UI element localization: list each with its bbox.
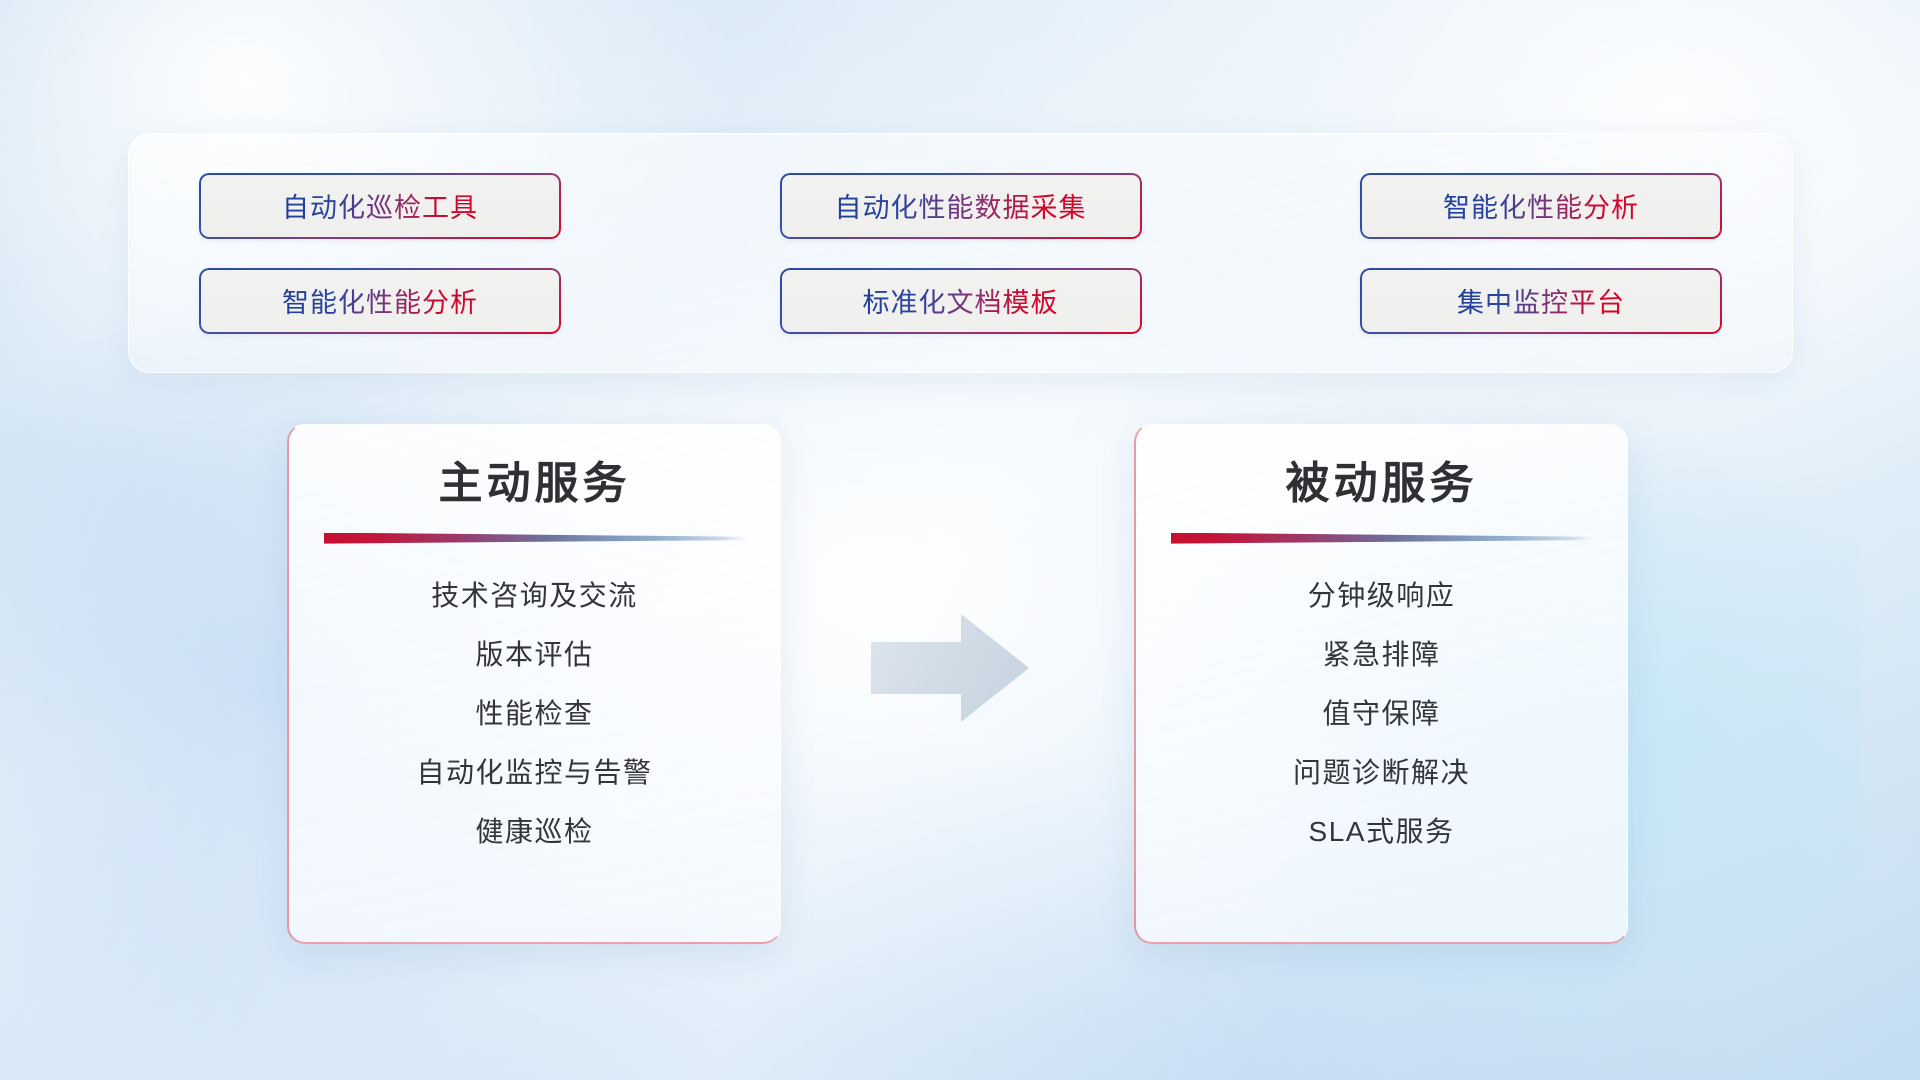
list-item: 紧急排障 [1322, 637, 1440, 672]
capability-pill-label: 智能化性能分析 [1443, 186, 1639, 225]
divider-gradient-wedge [324, 533, 746, 544]
capability-pill-label: 自动化性能数据采集 [835, 186, 1087, 225]
list-item: 值守保障 [1322, 696, 1440, 731]
service-card-active: 主动服务 技术咨询及交流 版本评估 性能检查 自动化监控与告警 健康巡检 [287, 424, 781, 944]
list-item: 健康巡检 [475, 814, 593, 849]
capability-row-2: 智能化性能分析 标准化文档模板 集中监控平台 [199, 268, 1722, 334]
list-item: 分钟级响应 [1308, 578, 1456, 613]
capability-pill-label: 自动化巡检工具 [282, 186, 478, 225]
divider-gradient-wedge [1171, 533, 1593, 544]
card-list-passive: 分钟级响应 紧急排障 值守保障 问题诊断解决 SLA式服务 [1176, 578, 1587, 849]
list-item: 性能检查 [475, 696, 593, 731]
capability-pill-label: 标准化文档模板 [863, 281, 1059, 320]
capability-pill-automated-inspection-tool[interactable]: 自动化巡检工具 [199, 173, 561, 239]
capability-panel: 自动化巡检工具 自动化性能数据采集 智能化性能分析 智能化性能分析 标准化文档模… [128, 133, 1793, 373]
capability-row-1: 自动化巡检工具 自动化性能数据采集 智能化性能分析 [199, 173, 1722, 239]
card-divider-active [324, 533, 746, 544]
list-item: 技术咨询及交流 [431, 578, 638, 613]
capability-pill-label: 集中监控平台 [1457, 281, 1625, 320]
capability-pill-intelligent-performance-analysis[interactable]: 智能化性能分析 [1360, 173, 1722, 239]
list-item: SLA式服务 [1309, 814, 1455, 849]
list-item: 问题诊断解决 [1293, 755, 1470, 790]
card-title-passive: 被动服务 [1286, 459, 1478, 510]
capability-pill-standardized-document-template[interactable]: 标准化文档模板 [780, 268, 1142, 334]
capability-pill-automated-performance-data-collection[interactable]: 自动化性能数据采集 [780, 173, 1142, 239]
service-card-passive: 被动服务 分钟级响应 紧急排障 值守保障 问题诊断解决 SLA式服务 [1134, 424, 1628, 944]
card-divider-passive [1171, 533, 1593, 544]
card-title-active: 主动服务 [439, 459, 631, 510]
capability-pill-label: 智能化性能分析 [282, 281, 478, 320]
capability-pill-centralized-monitoring-platform[interactable]: 集中监控平台 [1360, 268, 1722, 334]
right-arrow-icon [869, 612, 1031, 724]
list-item: 自动化监控与告警 [416, 755, 652, 790]
capability-pill-intelligent-performance-analysis-2[interactable]: 智能化性能分析 [199, 268, 561, 334]
list-item: 版本评估 [475, 637, 593, 672]
card-list-active: 技术咨询及交流 版本评估 性能检查 自动化监控与告警 健康巡检 [329, 578, 740, 849]
